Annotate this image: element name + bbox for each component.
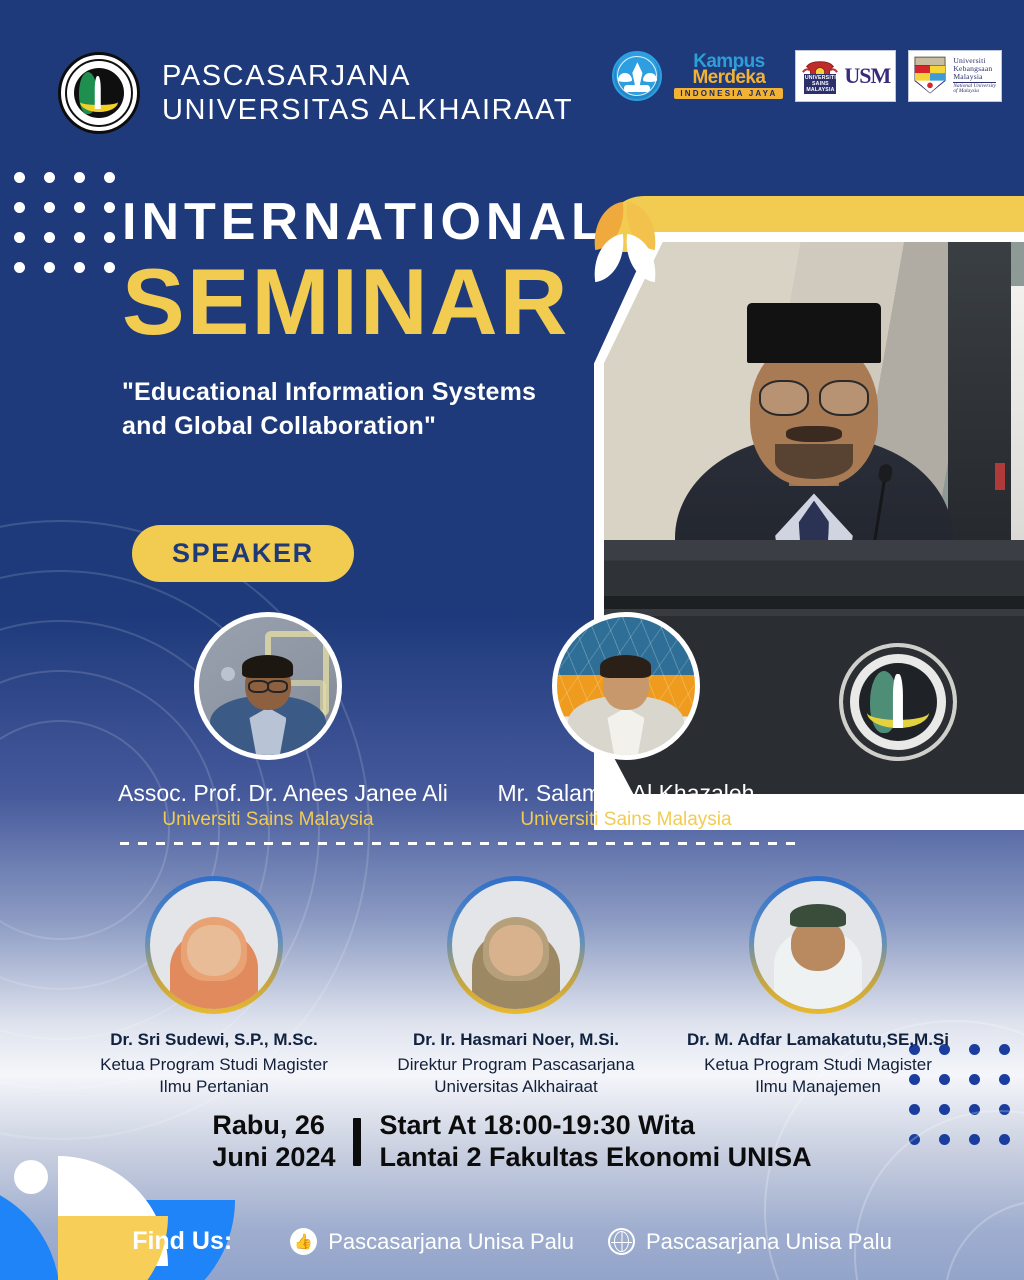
event-venue: Lantai 2 Fakultas Ekonomi UNISA: [379, 1142, 811, 1174]
ukm-sub-2: of Malaysia: [953, 89, 996, 95]
dashed-divider: [120, 842, 802, 845]
brand-text: PASCASARJANA UNIVERSITAS ALKHAIRAAT: [162, 59, 573, 127]
avatar-salameh-al-khazaleh: [552, 612, 700, 760]
event-date-line-1: Rabu, 26: [212, 1110, 335, 1142]
speaker-badge: SPEAKER: [132, 525, 354, 582]
seminar-subtitle: "Educational Information Systems and Glo…: [122, 376, 682, 444]
vertical-separator: [353, 1118, 361, 1166]
avatar-anees-janee-ali: [194, 612, 342, 760]
speaker-card: Mr. Salameh Al Khazaleh Universiti Sains…: [476, 612, 776, 831]
org-line-2: UNIVERSITAS ALKHAIRAAT: [162, 93, 573, 127]
partner-logos: Kampus Merdeka INDONESIA JAYA UNIVERSITI…: [612, 50, 1002, 102]
host-role-line-1: Ketua Program Studi Magister: [76, 1054, 352, 1076]
facebook-icon: [290, 1228, 317, 1255]
seminar-poster: PASCASARJANA UNIVERSITAS ALKHAIRAAT Kamp…: [0, 0, 1024, 1280]
speaker-name: Assoc. Prof. Dr. Anees Janee Ali: [118, 780, 418, 807]
website-handle-label: Pascasarjana Unisa Palu: [646, 1229, 892, 1255]
host-speaker-name: Dr. Sri Sudewi, S.P., M.Sc.: [76, 1030, 352, 1050]
brand-block: PASCASARJANA UNIVERSITAS ALKHAIRAAT: [58, 52, 573, 134]
usm-caption: UNIVERSITI SAINS MALAYSIA: [804, 74, 836, 94]
unisa-seal-icon: [58, 52, 140, 134]
find-us-label: Find Us:: [132, 1227, 232, 1256]
speaker-card: Assoc. Prof. Dr. Anees Janee Ali Univers…: [118, 612, 418, 831]
event-time: Start At 18:00-19:30 Wita: [379, 1110, 811, 1142]
poster-footer: Find Us: Pascasarjana Unisa Palu Pascasa…: [0, 1227, 1024, 1256]
malaysia-coat-of-arms-icon: UNIVERSITI SAINS MALAYSIA: [801, 57, 839, 95]
event-date: Rabu, 26 Juni 2024: [212, 1110, 335, 1174]
ukm-wordmark: Universiti Kebangsaan Malaysia National …: [953, 57, 996, 95]
facebook-handle-label: Pascasarjana Unisa Palu: [328, 1229, 574, 1255]
ukm-shield-icon: [914, 56, 948, 96]
host-speakers-row: Dr. Sri Sudewi, S.P., M.Sc. Ketua Progra…: [76, 876, 956, 1098]
podium-unisa-emblem-icon: [839, 643, 957, 761]
speaker-affiliation: Universiti Sains Malaysia: [118, 809, 418, 831]
facebook-handle[interactable]: Pascasarjana Unisa Palu: [290, 1228, 574, 1255]
tut-wuri-handayani-logo: [612, 51, 662, 101]
usm-logo: UNIVERSITI SAINS MALAYSIA USM: [795, 50, 896, 102]
ukm-line-3: Malaysia: [953, 73, 996, 81]
host-speaker-card: Dr. Sri Sudewi, S.P., M.Sc. Ketua Progra…: [76, 876, 352, 1098]
event-details-strip: Rabu, 26 Juni 2024 Start At 18:00-19:30 …: [0, 1108, 1024, 1176]
kampus-merdeka-tagline: INDONESIA JAYA: [674, 88, 783, 99]
sprout-leaf-icon: [588, 204, 668, 282]
subtitle-line-2: and Global Collaboration": [122, 410, 682, 444]
host-speaker-card: Dr. Ir. Hasmari Noer, M.Si. Direktur Pro…: [378, 876, 654, 1098]
website-handle[interactable]: Pascasarjana Unisa Palu: [608, 1228, 892, 1255]
host-speaker-role: Direktur Program Pascasarjana Universita…: [378, 1054, 654, 1098]
host-role-line-2: Ilmu Pertanian: [76, 1076, 352, 1098]
kampus-merdeka-line-2: Merdeka: [674, 69, 783, 86]
host-role-line-2: Universitas Alkhairaat: [378, 1076, 654, 1098]
dot-grid-top-left: [14, 172, 115, 273]
host-speaker-name: Dr. M. Adfar Lamakatutu,SE,M.Si: [680, 1030, 956, 1050]
avatar-hasmari-noer: [452, 881, 580, 1009]
poster-header: PASCASARJANA UNIVERSITAS ALKHAIRAAT Kamp…: [0, 0, 1024, 152]
speaker-affiliation: Universiti Sains Malaysia: [476, 809, 776, 831]
host-speaker-role: Ketua Program Studi Magister Ilmu Manaje…: [680, 1054, 956, 1098]
kampus-merdeka-logo: Kampus Merdeka INDONESIA JAYA: [674, 53, 783, 99]
event-detail: Start At 18:00-19:30 Wita Lantai 2 Fakul…: [379, 1110, 811, 1174]
avatar-sri-sudewi: [150, 881, 278, 1009]
host-speaker-name: Dr. Ir. Hasmari Noer, M.Si.: [378, 1030, 654, 1050]
usm-wordmark: USM: [844, 65, 890, 87]
host-role-line-1: Direktur Program Pascasarjana: [378, 1054, 654, 1076]
event-date-line-2: Juni 2024: [212, 1142, 335, 1174]
org-line-1: PASCASARJANA: [162, 59, 573, 93]
host-speaker-card: Dr. M. Adfar Lamakatutu,SE,M.Si Ketua Pr…: [680, 876, 956, 1098]
host-role-line-2: Ilmu Manajemen: [680, 1076, 956, 1098]
globe-icon: [608, 1228, 635, 1255]
host-speaker-role: Ketua Program Studi Magister Ilmu Pertan…: [76, 1054, 352, 1098]
speaker-name: Mr. Salameh Al Khazaleh: [476, 780, 776, 807]
main-speakers-row: Assoc. Prof. Dr. Anees Janee Ali Univers…: [118, 612, 798, 831]
host-role-line-1: Ketua Program Studi Magister: [680, 1054, 956, 1076]
avatar-adfar-lamakatutu: [754, 881, 882, 1009]
subtitle-line-1: "Educational Information Systems: [122, 376, 682, 410]
ukm-logo: Universiti Kebangsaan Malaysia National …: [908, 50, 1002, 102]
hero-headline: INTERNATIONAL SEMINAR "Educational Infor…: [122, 196, 682, 443]
